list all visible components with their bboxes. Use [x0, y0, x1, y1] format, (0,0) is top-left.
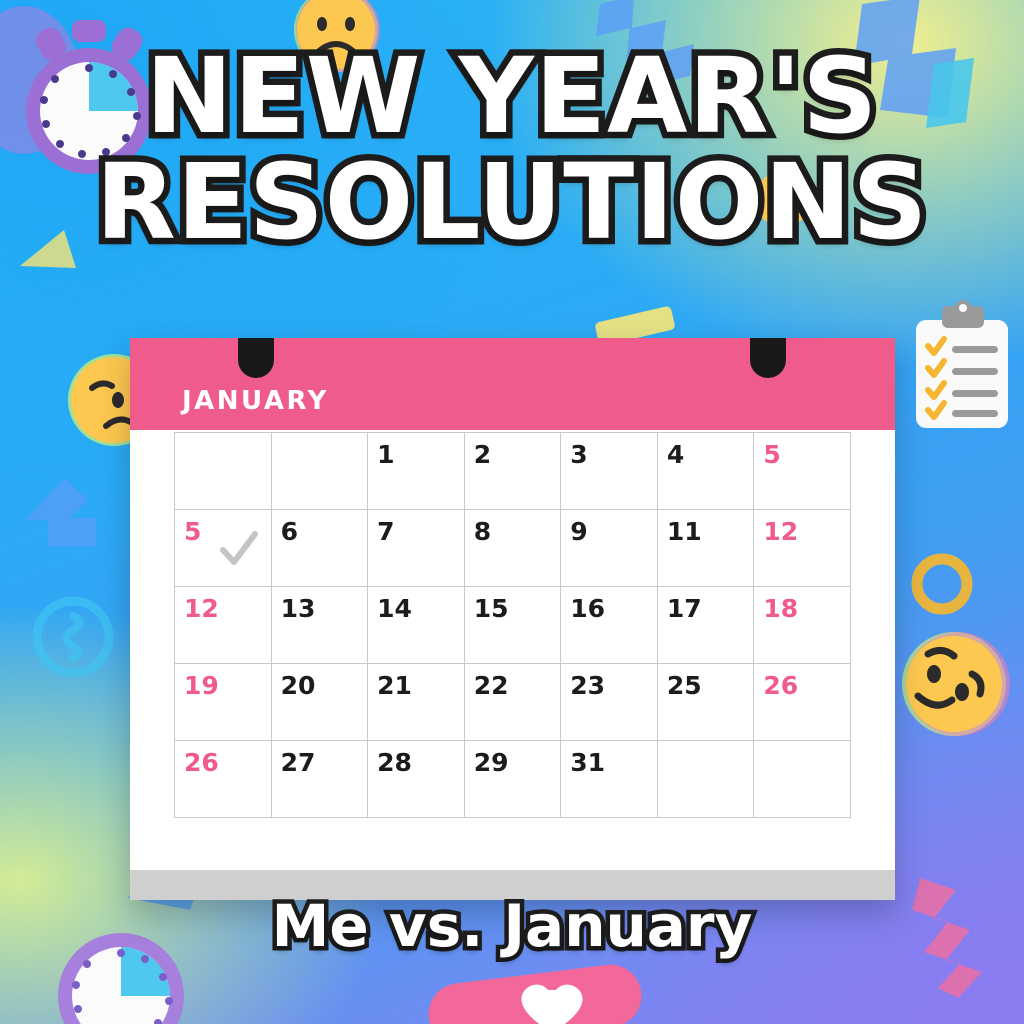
calendar-day-number: 1 — [377, 440, 394, 469]
calendar-grid: 1234556789111212131415161718192021222325… — [174, 432, 851, 818]
calendar-day-number: 18 — [763, 594, 798, 623]
calendar-day-cell[interactable]: 1 — [368, 433, 465, 510]
calendar-day-number: 25 — [667, 671, 702, 700]
calendar-day-cell[interactable]: 25 — [657, 664, 754, 741]
calendar-day-number: 28 — [377, 748, 412, 777]
calendar-day-cell[interactable]: 17 — [657, 587, 754, 664]
calendar-day-number: 15 — [474, 594, 509, 623]
caption-text: Me vs. January — [272, 892, 753, 960]
sad-face-emoji-top — [288, 0, 384, 83]
calendar-day-number: 8 — [474, 517, 491, 546]
calendar-day-number: 23 — [570, 671, 605, 700]
calendar-day-cell[interactable]: 13 — [271, 587, 368, 664]
calendar-day-cell[interactable]: 7 — [368, 510, 465, 587]
circle-confetti-left — [28, 592, 118, 682]
calendar-day-cell[interactable]: 19 — [175, 664, 272, 741]
calendar-day-cell[interactable]: 2 — [464, 433, 561, 510]
calendar-day-number: 16 — [570, 594, 605, 623]
calendar-week-row: 12345 — [175, 433, 851, 510]
calendar-day-number: 4 — [667, 440, 684, 469]
clipboard-checklist-icon — [900, 298, 1020, 443]
calendar-day-number: 11 — [667, 517, 702, 546]
sleepy-face-emoji-center — [752, 168, 814, 235]
calendar-day-number: 12 — [763, 517, 798, 546]
calendar-day-number: 5 — [763, 440, 780, 469]
calendar-day-cell[interactable]: 26 — [754, 664, 851, 741]
calendar-day-number: 2 — [474, 440, 491, 469]
calendar-day-number: 13 — [281, 594, 316, 623]
heart-banner — [424, 958, 654, 1024]
calendar-day-cell[interactable]: 3 — [561, 433, 658, 510]
calendar-day-number: 20 — [281, 671, 316, 700]
calendar-day-cell[interactable]: 18 — [754, 587, 851, 664]
calendar-day-number: 26 — [184, 748, 219, 777]
calendar-day-cell[interactable]: 12 — [175, 587, 272, 664]
binder-ring-right — [750, 338, 786, 378]
calendar-card: JANUARY 12345567891112121314151617181920… — [130, 338, 895, 900]
calendar-week-row: 19202122232526 — [175, 664, 851, 741]
zigzag-confetti — [590, 0, 760, 114]
calendar-day-number: 9 — [570, 517, 587, 546]
calendar-day-cell[interactable]: 12 — [754, 510, 851, 587]
zigzag-confetti-bottom-right — [890, 872, 1000, 1002]
confused-face-emoji-right — [896, 626, 1012, 747]
calendar-day-cell[interactable]: 28 — [368, 741, 465, 818]
calendar-day-number: 22 — [474, 671, 509, 700]
calendar-day-cell[interactable]: 5 — [754, 433, 851, 510]
ring-confetti-right — [906, 548, 978, 620]
calendar-day-cell[interactable]: 11 — [657, 510, 754, 587]
calendar-day-cell[interactable]: 16 — [561, 587, 658, 664]
calendar-week-row: 12131415161718 — [175, 587, 851, 664]
calendar-day-number: 5 — [184, 517, 201, 546]
calendar-day-cell[interactable]: 23 — [561, 664, 658, 741]
calendar-empty-cell — [754, 741, 851, 818]
calendar-day-cell[interactable]: 15 — [464, 587, 561, 664]
calendar-day-cell[interactable]: 8 — [464, 510, 561, 587]
stopwatch-icon-bottom-left — [46, 918, 196, 1024]
arrow-confetti-left — [18, 470, 108, 570]
calendar-day-number: 17 — [667, 594, 702, 623]
calendar-day-number: 26 — [763, 671, 798, 700]
calendar-week-row: 567891112 — [175, 510, 851, 587]
calendar-day-cell[interactable]: 14 — [368, 587, 465, 664]
calendar-day-number: 6 — [281, 517, 298, 546]
calendar-day-cell[interactable]: 4 — [657, 433, 754, 510]
calendar-body: 1234556789111212131415161718192021222325… — [130, 430, 895, 870]
calendar-day-cell[interactable]: 29 — [464, 741, 561, 818]
calendar-day-number: 3 — [570, 440, 587, 469]
calendar-day-number: 7 — [377, 517, 394, 546]
calendar-base-strip — [130, 870, 895, 900]
calendar-day-cell[interactable]: 26 — [175, 741, 272, 818]
calendar-day-number: 12 — [184, 594, 219, 623]
calendar-day-cell[interactable]: 20 — [271, 664, 368, 741]
calendar-day-cell[interactable]: 31 — [561, 741, 658, 818]
calendar-day-number: 27 — [281, 748, 316, 777]
calendar-day-number: 19 — [184, 671, 219, 700]
calendar-day-cell[interactable]: 5 — [175, 510, 272, 587]
arrow-confetti-top-right — [838, 0, 978, 140]
calendar-empty-cell — [271, 433, 368, 510]
calendar-day-number: 14 — [377, 594, 412, 623]
calendar-day-cell[interactable]: 6 — [271, 510, 368, 587]
calendar-day-cell[interactable]: 22 — [464, 664, 561, 741]
checkmark-icon — [215, 526, 261, 572]
calendar-week-row: 2627282931 — [175, 741, 851, 818]
calendar-day-cell[interactable]: 21 — [368, 664, 465, 741]
calendar-day-cell[interactable]: 9 — [561, 510, 658, 587]
calendar-day-number: 31 — [570, 748, 605, 777]
calendar-month-label: JANUARY — [182, 386, 329, 416]
calendar-empty-cell — [175, 433, 272, 510]
calendar-day-cell[interactable]: 27 — [271, 741, 368, 818]
stopwatch-icon-top-left — [14, 16, 164, 186]
binder-ring-left — [238, 338, 274, 378]
triangle-confetti-left — [14, 220, 84, 280]
calendar-empty-cell — [657, 741, 754, 818]
calendar-day-number: 29 — [474, 748, 509, 777]
calendar-day-number: 21 — [377, 671, 412, 700]
